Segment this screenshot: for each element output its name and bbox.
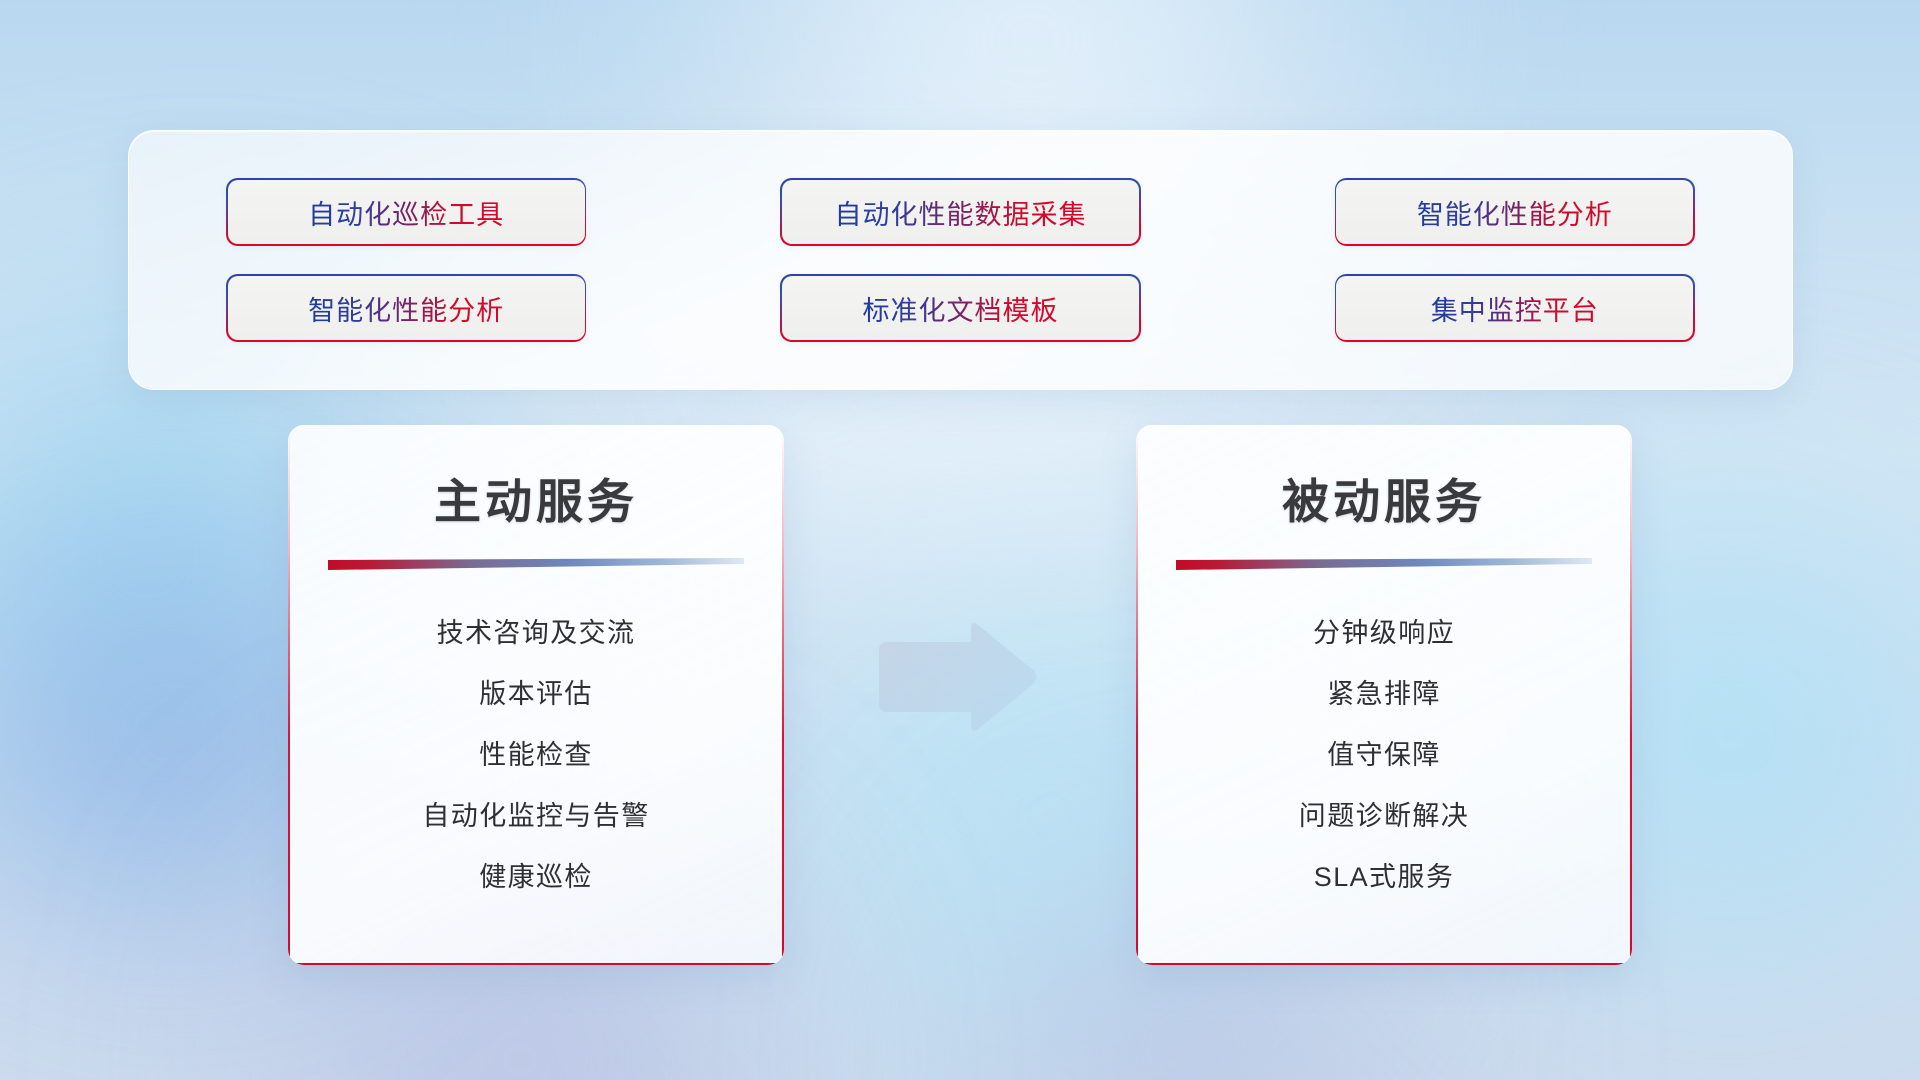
service-list-reactive: 分钟级响应 紧急排障 值守保障 问题诊断解决 SLA式服务 [1136,603,1632,908]
capability-pill-label: 智能化性能分析 [1417,193,1613,232]
capability-pill-intelligent-performance-analysis-2[interactable]: 智能化性能分析 [228,276,585,340]
list-item[interactable]: 值守保障 [1136,725,1632,786]
capability-pill-label: 自动化性能数据采集 [834,193,1086,232]
list-item[interactable]: 问题诊断解决 [1136,786,1632,847]
capability-row-2: 智能化性能分析 标准化文档模板 集中监控平台 [129,276,1792,340]
capability-row-1: 自动化巡检工具 自动化性能数据采集 智能化性能分析 [129,180,1792,244]
capability-pill-centralized-monitoring-platform[interactable]: 集中监控平台 [1336,276,1693,340]
capability-pill-automated-performance-data-collection[interactable]: 自动化性能数据采集 [782,180,1139,244]
capability-cell: 自动化巡检工具 [129,180,683,244]
capability-pill-label: 自动化巡检工具 [308,193,504,232]
card-title-reactive: 被动服务 [1136,463,1632,532]
service-list-proactive: 技术咨询及交流 版本评估 性能检查 自动化监控与告警 健康巡检 [288,603,784,908]
list-item[interactable]: 技术咨询及交流 [288,603,784,664]
list-item[interactable]: 自动化监控与告警 [288,786,784,847]
capability-cell: 标准化文档模板 [683,276,1237,340]
list-item[interactable]: 性能检查 [288,725,784,786]
capability-pill-label: 标准化文档模板 [862,289,1058,328]
card-accent-edge-bottom [1136,963,1632,965]
list-item[interactable]: 紧急排障 [1136,664,1632,725]
capability-pill-label: 集中监控平台 [1431,289,1599,328]
list-item[interactable]: 版本评估 [288,664,784,725]
capability-cell: 集中监控平台 [1238,276,1792,340]
capability-pill-label: 智能化性能分析 [308,289,504,328]
service-card-reactive: 被动服务 分钟级响应 紧急排障 值守保障 [1136,425,1632,965]
capability-pill-intelligent-performance-analysis[interactable]: 智能化性能分析 [1336,180,1693,244]
capability-cell: 自动化性能数据采集 [683,180,1237,244]
list-item[interactable]: 健康巡检 [288,847,784,908]
diagram-stage: 自动化巡检工具 自动化性能数据采集 智能化性能分析 智能化性能分析 [0,0,1920,1080]
card-accent-edge-bottom [288,963,784,965]
card-title-underline-proactive [328,558,744,571]
right-arrow-icon [873,622,1041,732]
card-title-underline-reactive [1176,558,1592,571]
service-card-proactive: 主动服务 技术咨询及交流 版本评估 性能检查 [288,425,784,965]
capability-pill-automation-inspection-tool[interactable]: 自动化巡检工具 [228,180,585,244]
capability-cell: 智能化性能分析 [1238,180,1792,244]
list-item[interactable]: 分钟级响应 [1136,603,1632,664]
capability-tag-panel: 自动化巡检工具 自动化性能数据采集 智能化性能分析 智能化性能分析 [128,130,1793,390]
capability-cell: 智能化性能分析 [129,276,683,340]
list-item[interactable]: SLA式服务 [1136,847,1632,908]
card-title-proactive: 主动服务 [288,463,784,532]
capability-pill-standardized-document-template[interactable]: 标准化文档模板 [782,276,1139,340]
